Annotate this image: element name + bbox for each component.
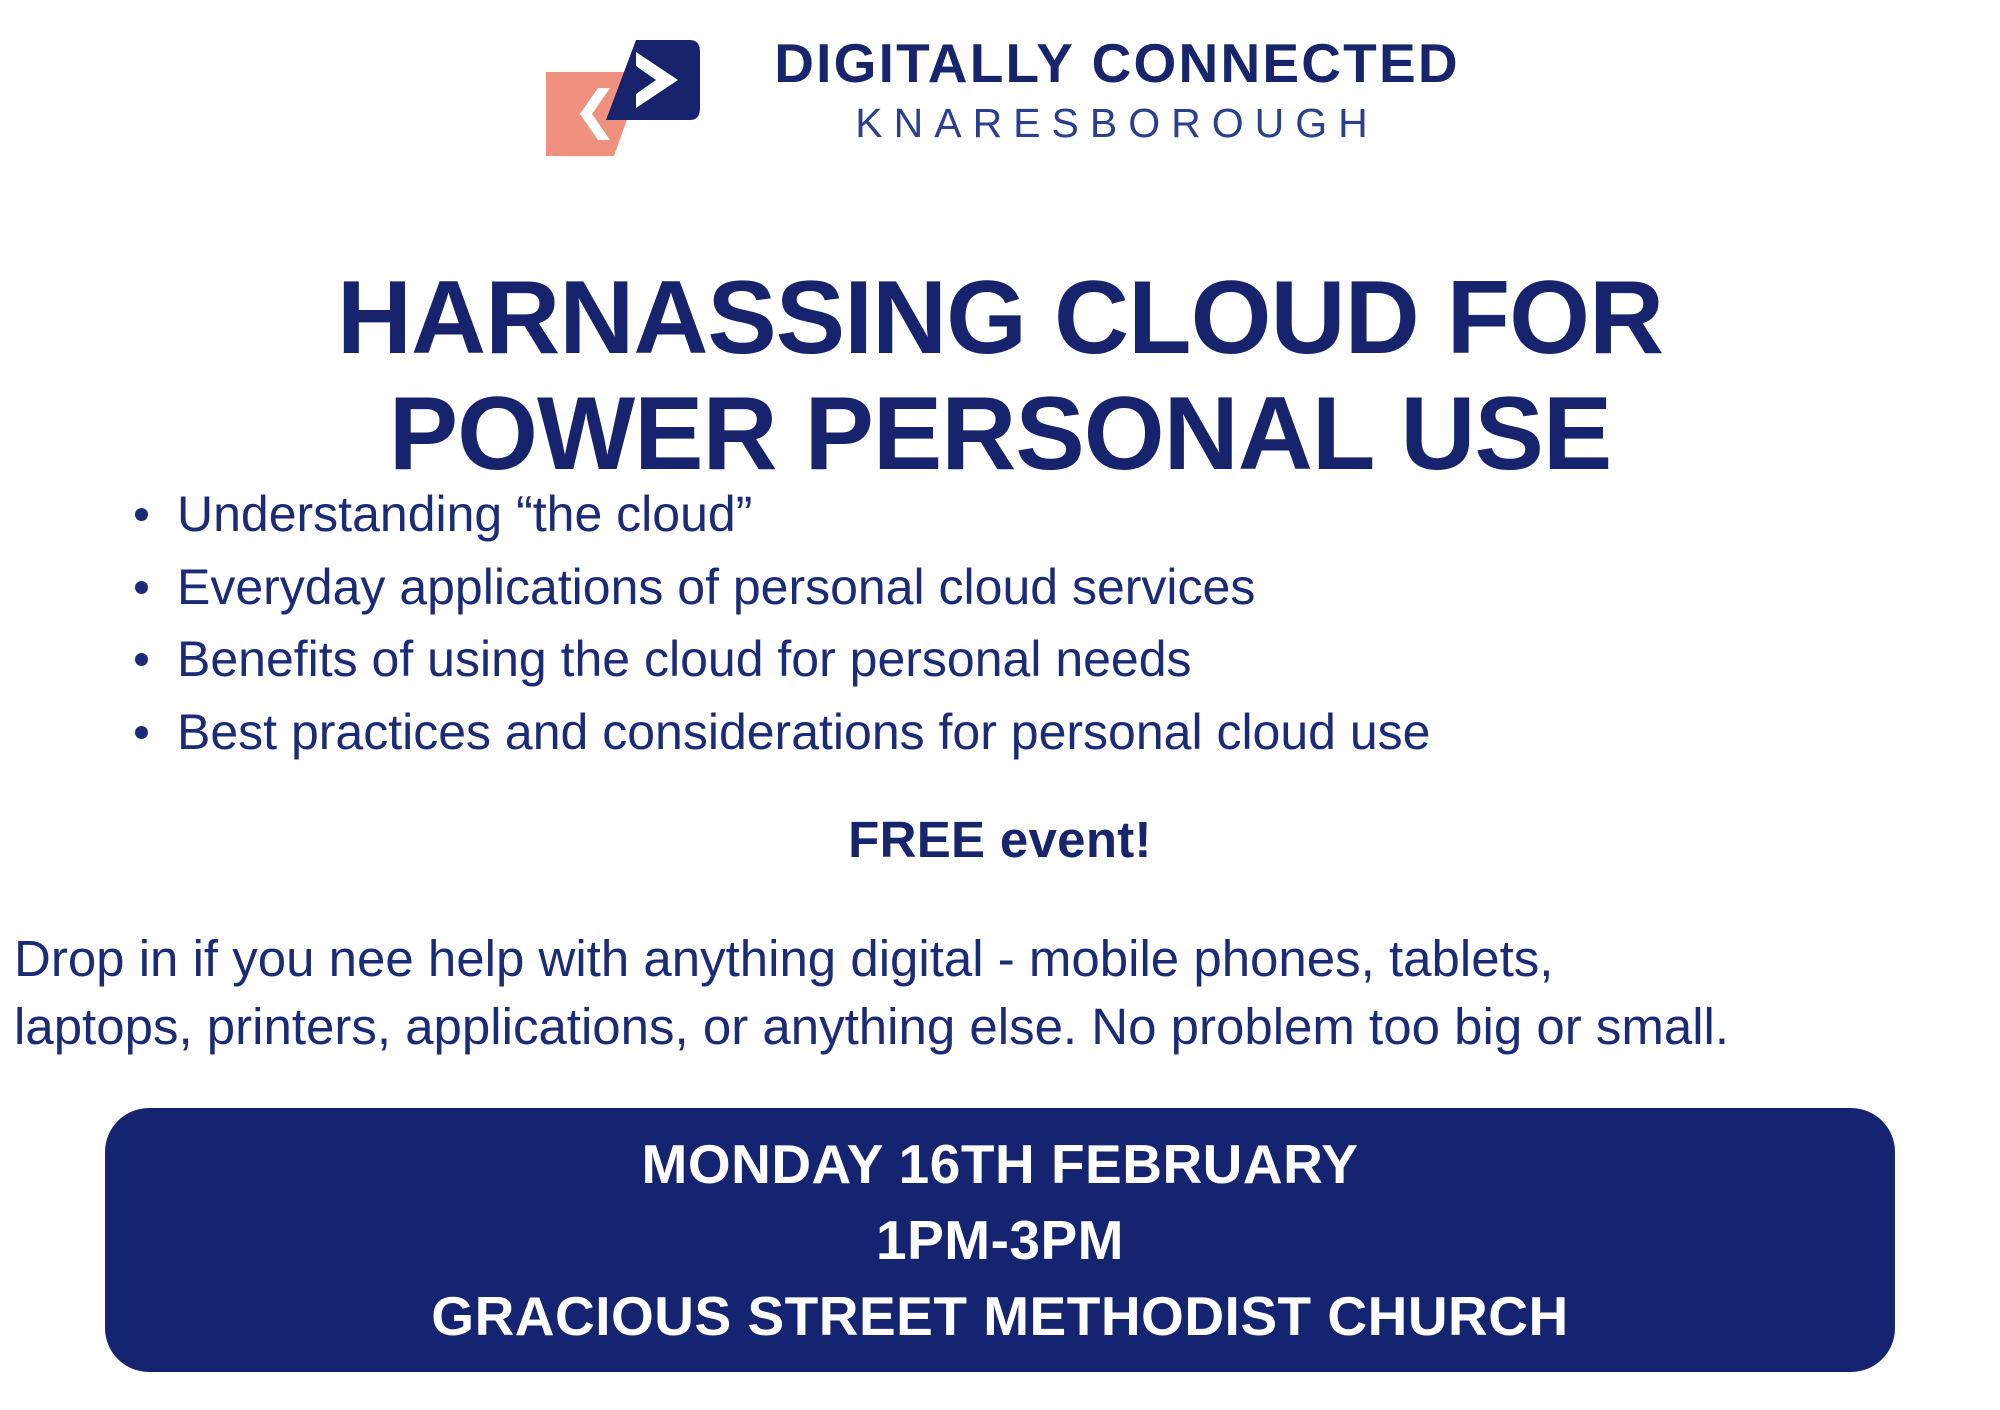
brand-logo-block: DIGITALLY CONNECTED KNARESBOROUGH	[0, 26, 2000, 158]
event-venue: GRACIOUS STREET METHODIST CHURCH	[431, 1279, 1568, 1355]
page-title-line1: HARNASSING CLOUD FOR	[0, 260, 2000, 376]
list-item: Everyday applications of personal cloud …	[125, 551, 1875, 624]
list-item: Best practices and considerations for pe…	[125, 696, 1875, 769]
chevron-left-right-logo-icon	[540, 26, 760, 158]
event-flyer-poster: DIGITALLY CONNECTED KNARESBOROUGH HARNAS…	[0, 0, 2000, 1410]
brand-wordmark: DIGITALLY CONNECTED KNARESBOROUGH	[774, 35, 1460, 148]
event-date: MONDAY 16TH FEBRUARY	[642, 1127, 1359, 1203]
drop-in-description: Drop in if you nee help with anything di…	[14, 925, 1986, 1062]
event-time: 1PM-3PM	[876, 1203, 1124, 1279]
page-title: HARNASSING CLOUD FOR POWER PERSONAL USE	[0, 260, 2000, 493]
brand-name-line2: KNARESBOROUGH	[774, 102, 1460, 145]
page-title-line2: POWER PERSONAL USE	[0, 376, 2000, 492]
drop-in-description-line1: Drop in if you nee help with anything di…	[14, 925, 1986, 993]
topics-list: Understanding “the cloud” Everyday appli…	[125, 478, 1875, 768]
brand-logo-inner: DIGITALLY CONNECTED KNARESBOROUGH	[540, 26, 1460, 158]
free-event-label: FREE event!	[0, 810, 2000, 869]
list-item: Understanding “the cloud”	[125, 478, 1875, 551]
drop-in-description-line2: laptops, printers, applications, or anyt…	[14, 993, 1986, 1061]
event-details-box: MONDAY 16TH FEBRUARY 1PM-3PM GRACIOUS ST…	[105, 1108, 1895, 1372]
list-item: Benefits of using the cloud for personal…	[125, 623, 1875, 696]
brand-name-line1: DIGITALLY CONNECTED	[774, 35, 1460, 91]
